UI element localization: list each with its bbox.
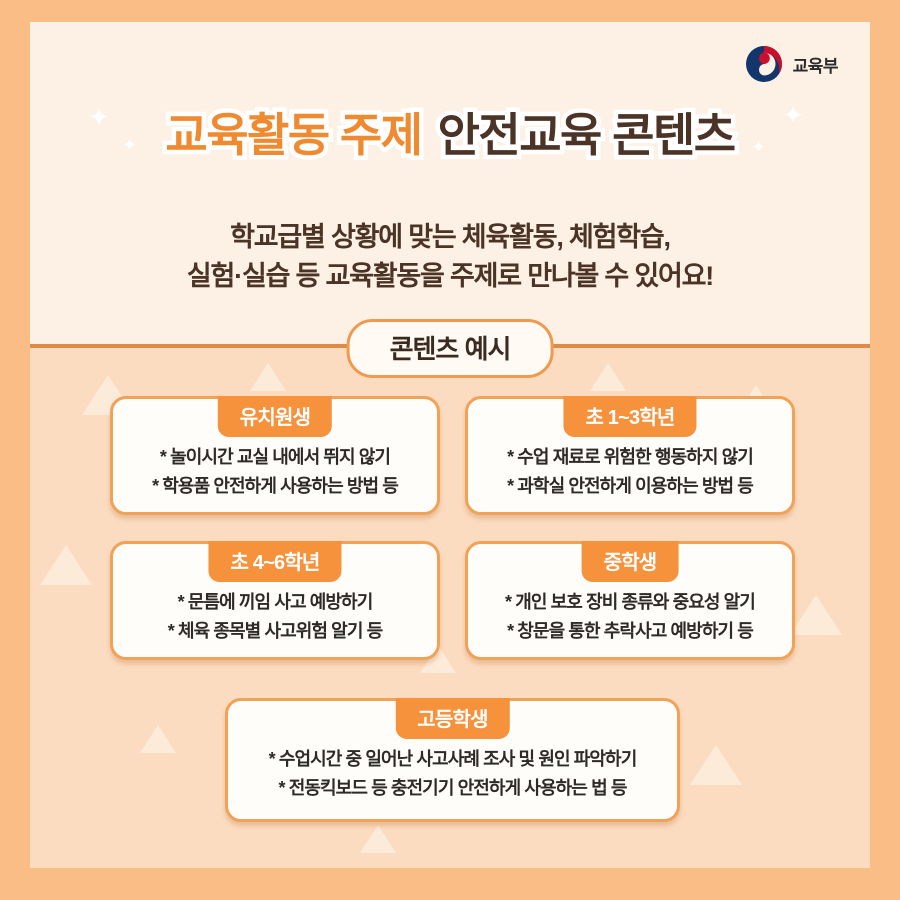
card-body: * 수업시간 중 일어난 사고사례 조사 및 원인 파악하기 * 전동킥보드 등… [228, 745, 677, 803]
title-part-orange: 교육활동 주제 [165, 109, 421, 161]
triangle-watermark [690, 745, 742, 785]
content-card: 초 1~3학년 * 수업 재료로 위험한 행동하지 않기 * 과학실 안전하게 … [465, 396, 795, 515]
card-line: * 놀이시간 교실 내에서 뛰지 않기 [113, 443, 437, 472]
card-line: * 전동킥보드 등 충전기기 안전하게 사용하는 법 등 [228, 774, 677, 803]
card-badge: 중학생 [582, 541, 679, 582]
card-badge: 고등학생 [395, 698, 509, 739]
card-badge: 유치원생 [218, 396, 332, 437]
card-line: * 학용품 안전하게 사용하는 방법 등 [113, 472, 437, 501]
card-line: * 수업시간 중 일어난 사고사례 조사 및 원인 파악하기 [228, 745, 677, 774]
triangle-watermark [140, 725, 176, 753]
subtitle: 학교급별 상황에 맞는 체육활동, 체험학습, 실험·실습 등 교육활동을 주제… [30, 218, 870, 296]
title-block: ✦ ✦ ✦ ✦ 교육활동 주제안전교육 콘텐츠 [30, 108, 870, 163]
ministry-name: 교육부 [793, 52, 838, 77]
sparkle-icon: ✦ [122, 136, 137, 154]
content-card: 고등학생 * 수업시간 중 일어난 사고사례 조사 및 원인 파악하기 * 전동… [225, 698, 680, 822]
subtitle-line-1: 학교급별 상황에 맞는 체육활동, 체험학습, [30, 218, 870, 257]
triangle-watermark [590, 363, 626, 391]
triangle-watermark [250, 363, 286, 391]
card-body: * 놀이시간 교실 내에서 뛰지 않기 * 학용품 안전하게 사용하는 방법 등 [113, 443, 437, 501]
content-card: 초 4~6학년 * 문틈에 끼임 사고 예방하기 * 체육 종목별 사고위험 알… [110, 541, 440, 660]
card-line: * 문틈에 끼임 사고 예방하기 [113, 588, 437, 617]
card-body: * 수업 재료로 위험한 행동하지 않기 * 과학실 안전하게 이용하는 방법 … [468, 443, 792, 501]
poster-panel: 교육부 ✦ ✦ ✦ ✦ 교육활동 주제안전교육 콘텐츠 학교급별 상황에 맞는 … [30, 22, 870, 868]
card-badge: 초 1~3학년 [563, 396, 696, 437]
triangle-watermark [40, 545, 92, 585]
ministry-logo: 교육부 [744, 44, 838, 84]
sparkle-icon: ✦ [88, 104, 110, 130]
card-line: * 창문을 통한 추락사고 예방하기 등 [468, 617, 792, 646]
content-card: 중학생 * 개인 보호 장비 종류와 중요성 알기 * 창문을 통한 추락사고 … [465, 541, 795, 660]
card-line: * 개인 보호 장비 종류와 중요성 알기 [468, 588, 792, 617]
card-line: * 체육 종목별 사고위험 알기 등 [113, 617, 437, 646]
card-line: * 과학실 안전하게 이용하는 방법 등 [468, 472, 792, 501]
triangle-watermark [360, 825, 396, 853]
content-card: 유치원생 * 놀이시간 교실 내에서 뛰지 않기 * 학용품 안전하게 사용하는… [110, 396, 440, 515]
sparkle-icon: ✦ [751, 138, 766, 156]
section-header-pill: 콘텐츠 예시 [347, 319, 554, 378]
sparkle-icon: ✦ [782, 102, 804, 128]
card-badge: 초 4~6학년 [208, 541, 341, 582]
card-body: * 개인 보호 장비 종류와 중요성 알기 * 창문을 통한 추락사고 예방하기… [468, 588, 792, 646]
taegeuk-icon [744, 44, 784, 84]
card-body: * 문틈에 끼임 사고 예방하기 * 체육 종목별 사고위험 알기 등 [113, 588, 437, 646]
subtitle-line-2: 실험·실습 등 교육활동을 주제로 만나볼 수 있어요! [30, 257, 870, 296]
card-line: * 수업 재료로 위험한 행동하지 않기 [468, 443, 792, 472]
poster-root: 교육부 ✦ ✦ ✦ ✦ 교육활동 주제안전교육 콘텐츠 학교급별 상황에 맞는 … [0, 0, 900, 900]
page-title: 교육활동 주제안전교육 콘텐츠 [165, 108, 734, 163]
triangle-watermark [790, 595, 842, 635]
title-part-brown: 안전교육 콘텐츠 [438, 109, 735, 161]
